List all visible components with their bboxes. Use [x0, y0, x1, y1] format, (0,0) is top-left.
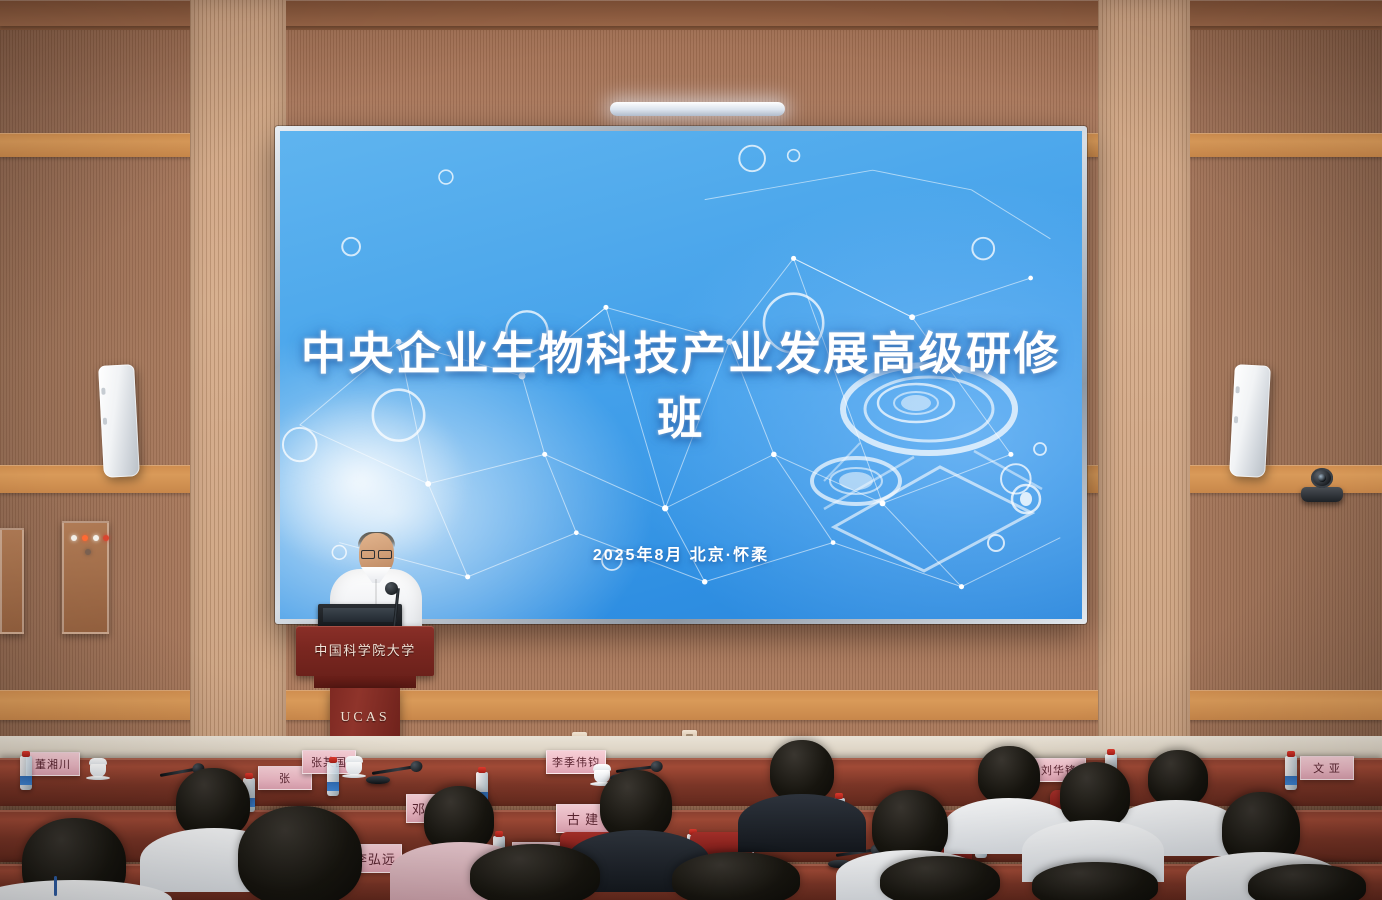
microphone-base — [366, 776, 390, 784]
wall-speaker-right-icon — [1229, 364, 1271, 478]
ceiling-light-fixture — [610, 102, 785, 116]
name-placard: 董湘川 — [26, 752, 80, 776]
tea-cup-icon — [88, 758, 108, 780]
water-bottle-icon — [327, 762, 339, 796]
water-bottle-icon — [1285, 756, 1297, 790]
audience-head — [1060, 762, 1130, 828]
wall-speaker-left-icon — [98, 364, 140, 478]
audience-head — [1248, 864, 1366, 900]
wall-pilaster-right — [1098, 0, 1190, 760]
lectern-org-cn: 中国科学院大学 — [296, 640, 434, 659]
tea-cup-icon — [344, 756, 364, 778]
lectern-org-en: UCAS — [296, 710, 434, 726]
audience-head — [1032, 862, 1158, 900]
audience-head — [470, 844, 600, 900]
audience-head — [880, 856, 1000, 900]
podium-microphone-head — [385, 582, 398, 595]
name-placard: 文 亚 — [1300, 756, 1354, 780]
lectern-neck — [314, 676, 416, 688]
audience-head — [770, 740, 834, 802]
audience-shoulders — [738, 794, 866, 852]
wall-pilaster-left — [190, 0, 286, 760]
control-panel-secondary — [0, 528, 24, 634]
control-panel-main — [62, 521, 109, 634]
lanyard — [54, 876, 57, 896]
audience-head — [238, 806, 362, 900]
audience-head — [1148, 750, 1208, 806]
slide-title: 中央企业生物科技产业发展高级研修班 — [280, 317, 1082, 447]
audience-head — [978, 746, 1040, 804]
ptz-camera-icon — [1301, 468, 1343, 502]
water-bottle-icon — [20, 756, 32, 790]
audience-head — [672, 852, 800, 900]
glasses-icon — [361, 550, 392, 557]
conference-hall-photo: 中央企业生物科技产业发展高级研修班 2025年8月 北京·怀柔 中国科学院大学 — [0, 0, 1382, 900]
